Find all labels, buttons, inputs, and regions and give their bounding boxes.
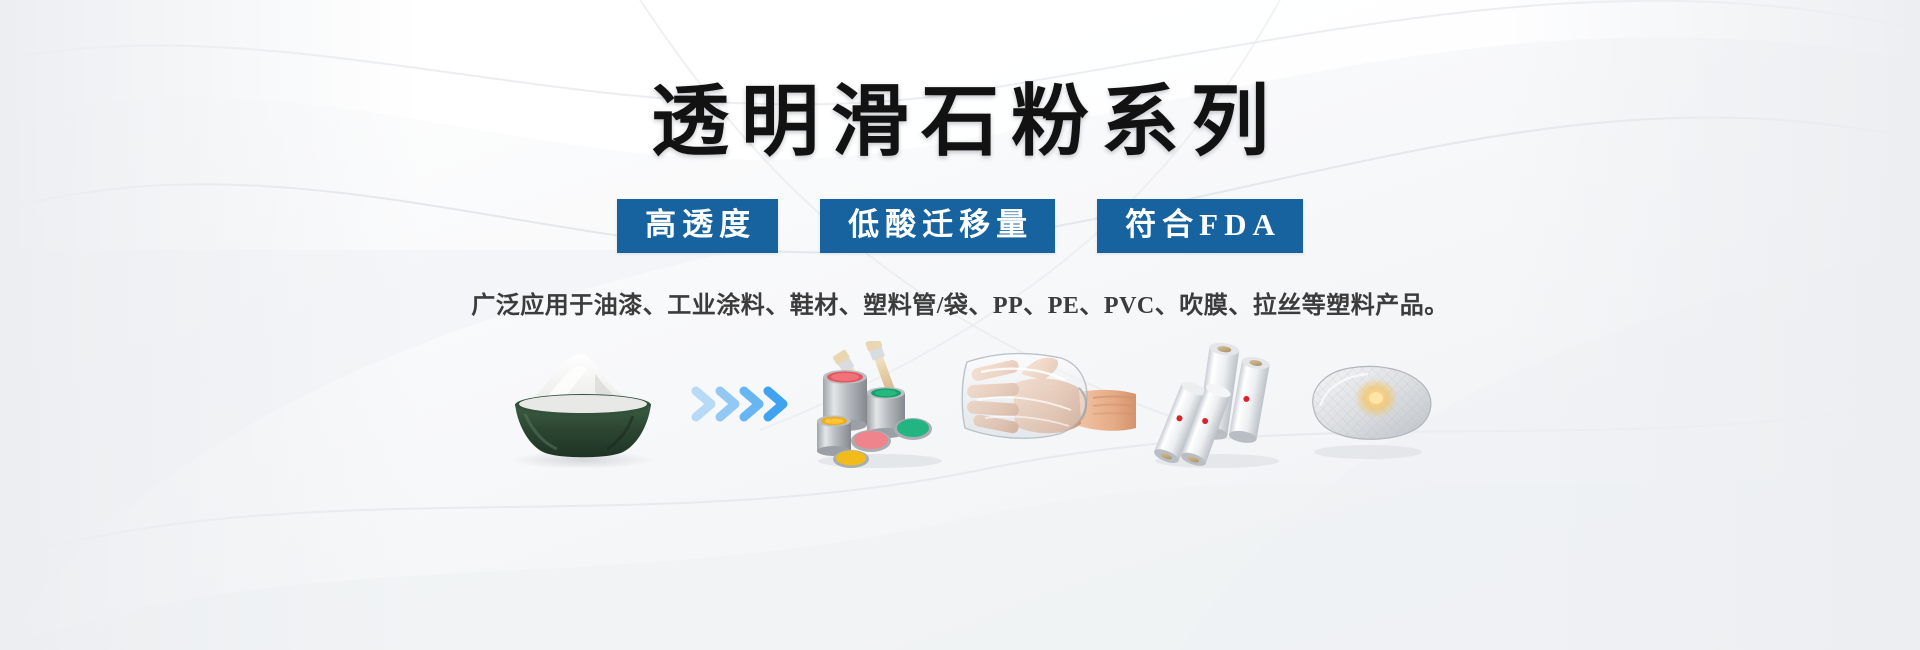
- process-arrow-chevrons: [689, 339, 799, 469]
- product-paint-cans: [805, 339, 955, 469]
- feature-badge-list: 高透度 低酸迁移量 符合FDA: [617, 199, 1303, 253]
- feature-badge-fda-compliant: 符合FDA: [1097, 199, 1303, 253]
- application-description: 广泛应用于油漆、工业涂料、鞋材、塑料管/袋、PP、PE、PVC、吹膜、拉丝等塑料…: [471, 285, 1448, 320]
- product-shoe-sole: [1298, 339, 1438, 469]
- feature-badge-high-transparency: 高透度: [617, 199, 778, 253]
- product-film-rolls: [1142, 339, 1292, 469]
- page-title: 透明滑石粉系列: [639, 78, 1281, 165]
- banner-content: 透明滑石粉系列 高透度 低酸迁移量 符合FDA 广泛应用于油漆、工业涂料、鞋材、…: [0, 0, 1920, 650]
- product-banner: 透明滑石粉系列 高透度 低酸迁移量 符合FDA 广泛应用于油漆、工业涂料、鞋材、…: [0, 0, 1920, 650]
- product-talc-powder-bowl: [483, 339, 683, 469]
- product-plastic-glove: [961, 339, 1136, 469]
- feature-badge-low-acid-migration: 低酸迁移量: [820, 199, 1055, 253]
- product-application-strip: [460, 334, 1460, 469]
